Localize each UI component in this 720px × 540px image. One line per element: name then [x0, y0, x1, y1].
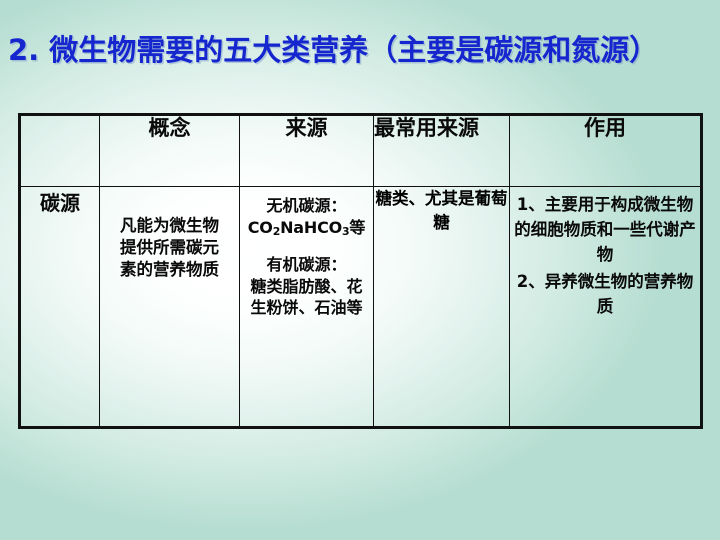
function-item-2: 2、异养微生物的营养物质: [514, 269, 696, 319]
source-inorganic-label: 无机碳源：: [244, 195, 369, 217]
header-cell-category: [20, 115, 100, 187]
table-header-row: 概念 来源 最常用来源 作用: [20, 115, 702, 187]
cell-concept: 凡能为微生物提供所需碳元素的营养物质: [100, 187, 240, 428]
header-cell-common-source: 最常用来源: [374, 115, 510, 187]
source-organic-items: 糖类脂肪酸、花生粉饼、石油等: [244, 276, 369, 319]
formula-co-sub: 2: [273, 225, 280, 238]
formula-nahco-sub: 3: [342, 225, 349, 238]
slide-canvas: 2. 微生物需要的五大类营养（主要是碳源和氮源） 概念 来源 最常用来源 作用 …: [0, 0, 720, 540]
cell-common-source: 糖类、尤其是葡萄糖: [374, 187, 510, 428]
header-cell-source: 来源: [240, 115, 374, 187]
formula-suffix: 等: [349, 218, 365, 237]
source-text: 无机碳源： CO2NaHCO3等 有机碳源： 糖类脂肪酸、花生粉饼、石油等: [240, 187, 373, 319]
formula-co: CO: [248, 218, 273, 237]
concept-text: 凡能为微生物提供所需碳元素的营养物质: [100, 187, 239, 281]
source-organic-label: 有机碳源：: [244, 254, 369, 276]
formula-nahco: NaHCO: [280, 218, 342, 237]
common-source-text: 糖类、尤其是葡萄糖: [374, 187, 509, 235]
cell-category-carbon: 碳源: [20, 187, 100, 428]
header-cell-concept: 概念: [100, 115, 240, 187]
source-inorganic-formula: CO2NaHCO3等: [244, 217, 369, 241]
table-row: 碳源 凡能为微生物提供所需碳元素的营养物质 无机碳源： CO2NaHCO3等 有…: [20, 187, 702, 428]
function-item-1: 1、主要用于构成微生物的细胞物质和一些代谢产物: [514, 192, 696, 267]
header-cell-function: 作用: [510, 115, 702, 187]
cell-function: 1、主要用于构成微生物的细胞物质和一些代谢产物 2、异养微生物的营养物质: [510, 187, 702, 428]
cell-source: 无机碳源： CO2NaHCO3等 有机碳源： 糖类脂肪酸、花生粉饼、石油等: [240, 187, 374, 428]
nutrient-table: 概念 来源 最常用来源 作用 碳源 凡能为微生物提供所需碳元素的营养物质 无机碳…: [18, 113, 703, 429]
function-text: 1、主要用于构成微生物的细胞物质和一些代谢产物 2、异养微生物的营养物质: [510, 187, 700, 319]
page-title: 2. 微生物需要的五大类营养（主要是碳源和氮源）: [8, 33, 720, 67]
